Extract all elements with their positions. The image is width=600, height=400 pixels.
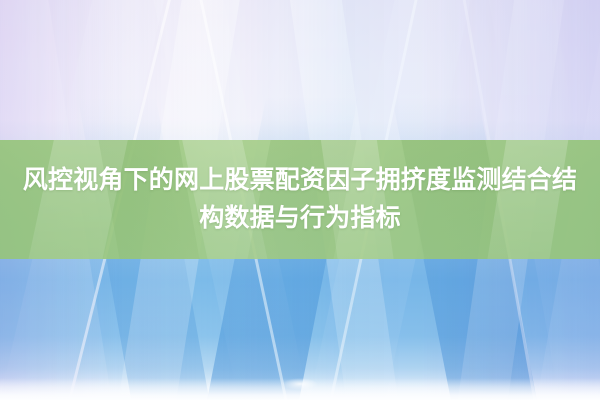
title-line-1: 风控视角下的网上股票配资因子拥挤度监测结合结 — [23, 164, 577, 197]
title-line-2: 构数据与行为指标 — [199, 202, 401, 235]
banner-image: 风控视角下的网上股票配资因子拥挤度监测结合结 构数据与行为指标 — [0, 0, 600, 400]
banner-title: 风控视角下的网上股票配资因子拥挤度监测结合结 构数据与行为指标 — [0, 140, 600, 259]
bottom-glint — [282, 378, 318, 390]
